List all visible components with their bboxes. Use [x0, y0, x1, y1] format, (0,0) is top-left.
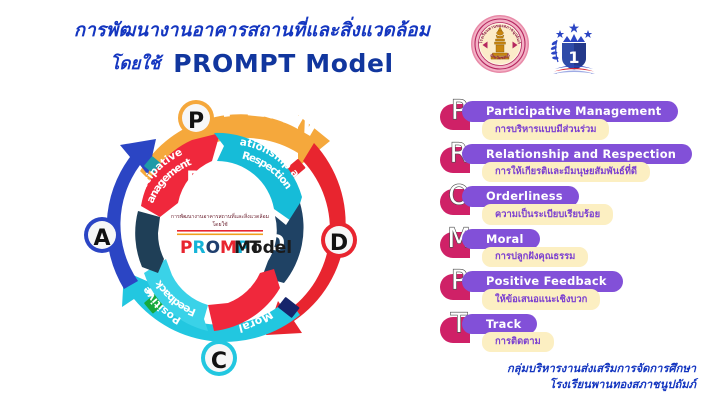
outer-arc-do-label: Do	[331, 276, 385, 335]
outer-arc-do-badge: D	[330, 231, 348, 256]
legend-en-label: Relationship and Respection	[462, 144, 692, 165]
center-prompt-model: PROMPT Model	[180, 238, 292, 258]
outer-arc-plan-badge: P	[188, 109, 204, 134]
school-seal-logo: โรงเรียนพานทองสภาชนูปถัมภ์	[469, 12, 531, 80]
legend-item-track[interactable]: T Track การติดตาม	[440, 311, 702, 351]
legend-th-label: การปลูกฝังคุณธรรม	[482, 247, 588, 268]
page-title: การพัฒนางานอาคารสถานที่และสิ่งแวดล้อม โด…	[52, 16, 452, 78]
legend-item-orderliness[interactable]: O Orderliness ความเป็นระเบียบเรียบร้อย	[440, 183, 702, 223]
pdca-prompt-wheel: PLAN P Do D CHECK	[62, 83, 402, 383]
center-letter-r: R	[192, 238, 205, 258]
center-thai-line2: โดยใช้	[212, 221, 228, 228]
credit-line-1: กลุ่มบริหารงานส่งเสริมการจัดการศึกษา	[507, 361, 696, 377]
legend-en-label: Track	[462, 314, 537, 335]
center-letter-p1: P	[180, 238, 192, 258]
title-model-text: PROMPT Model	[173, 49, 393, 78]
title-prefix-text: โดยใช้	[110, 54, 160, 74]
legend-th-label: การบริหารแบบมีส่วนร่วม	[482, 119, 609, 140]
legend-th-label: ความเป็นระเบียบเรียบร้อย	[482, 204, 613, 225]
outer-arc-check-badge: C	[211, 349, 227, 374]
legend-th-label: การให้เกียรติและมีมนุษยสัมพันธ์ที่ดี	[482, 162, 650, 183]
center-thai-line1: การพัฒนางานอาคารสถานที่และสิ่งแวดล้อม	[171, 213, 269, 220]
legend-en-label: Moral	[462, 229, 540, 250]
legend-item-participative-management[interactable]: P Participative Management การบริหารแบบม…	[440, 98, 702, 138]
prompt-legend-list: P Participative Management การบริหารแบบม…	[440, 98, 702, 353]
legend-th-label: การติดตาม	[482, 332, 554, 353]
title-thai-line: การพัฒนางานอาคารสถานที่และสิ่งแวดล้อม	[52, 16, 452, 45]
logo-group: โรงเรียนพานทองสภาชนูปถัมภ์	[469, 12, 605, 80]
credit-block: กลุ่มบริหารงานส่งเสริมการจัดการศึกษา โรง…	[507, 361, 696, 393]
infographic-canvas: การพัฒนางานอาคารสถานที่และสิ่งแวดล้อม โด…	[0, 0, 710, 405]
legend-item-positive-feedback[interactable]: P Positive Feedback ให้ข้อเสนอแนะเชิงบวก	[440, 268, 702, 308]
outer-arc-act-badge: A	[93, 226, 110, 251]
legend-th-label: ให้ข้อเสนอแนะเชิงบวก	[482, 289, 600, 310]
credit-line-2: โรงเรียนพานทองสภาชนูปถัมภ์	[507, 377, 696, 393]
center-model-word: Model	[234, 238, 292, 258]
svg-text:Do: Do	[331, 276, 385, 335]
title-model-line: โดยใช้PROMPT Model	[52, 49, 452, 78]
legend-item-relationship-respection[interactable]: R Relationship and Respection การให้เกีย…	[440, 141, 702, 181]
center-letter-o: O	[206, 238, 220, 258]
shield-caption: 1	[568, 48, 579, 67]
education-shield-logo: 1	[543, 12, 605, 80]
legend-item-moral[interactable]: M Moral การปลูกฝังคุณธรรม	[440, 226, 702, 266]
